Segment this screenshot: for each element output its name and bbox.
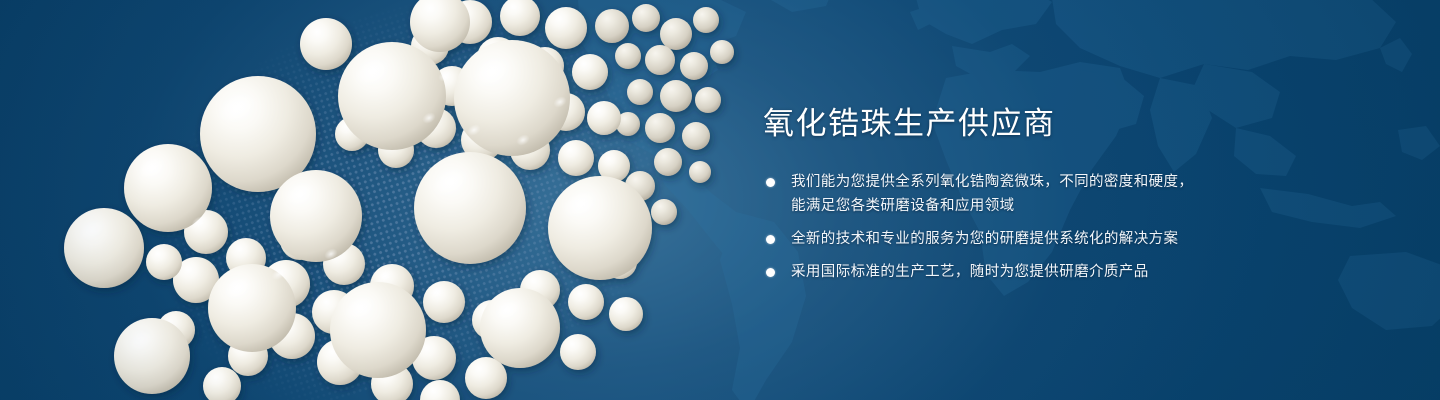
hero-banner: 氧化锆珠生产供应商 我们能为您提供全系列氧化锆陶瓷微珠，不同的密度和硬度， 能满…	[0, 0, 1440, 400]
vignette-overlay	[0, 0, 1440, 400]
